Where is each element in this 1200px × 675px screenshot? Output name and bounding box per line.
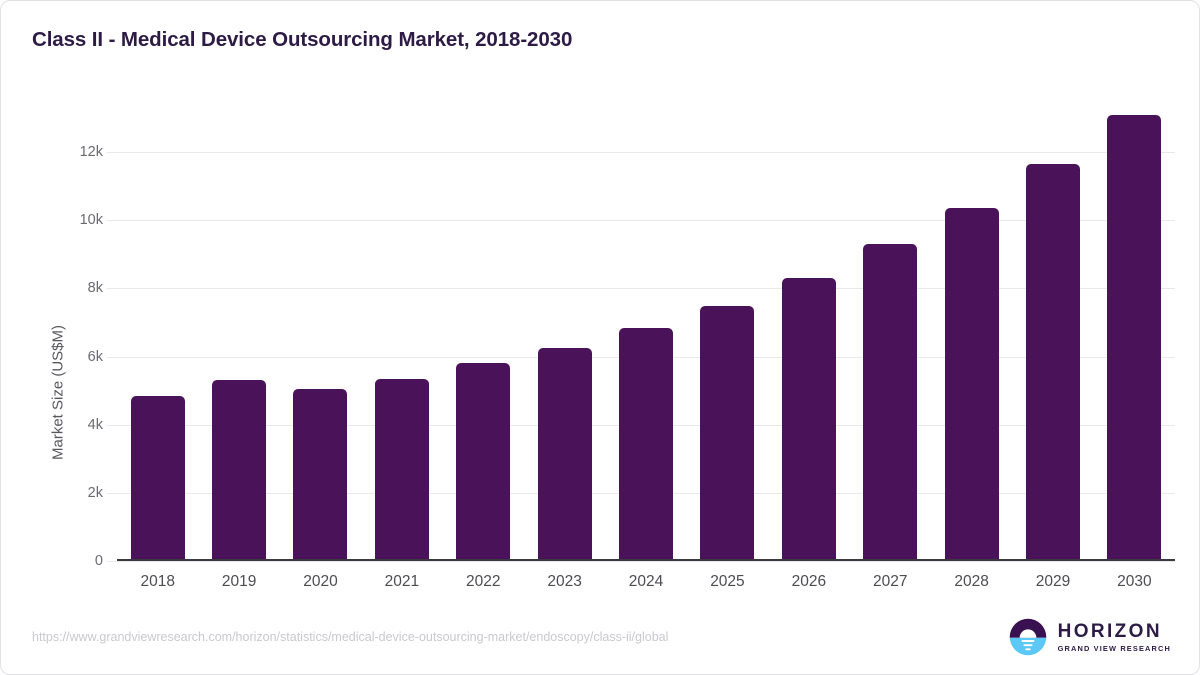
bar-2020[interactable] (293, 389, 347, 561)
bar-slot (443, 96, 524, 561)
y-axis-tick-label: 12k (43, 144, 103, 160)
bar-slot (850, 96, 931, 561)
bar-2023[interactable] (538, 348, 592, 561)
bar-slot (361, 96, 442, 561)
x-axis-tick-label: 2030 (1094, 573, 1175, 591)
x-axis-tick-label: 2026 (768, 573, 849, 591)
x-axis-tick-label: 2023 (524, 573, 605, 591)
x-axis-tick-labels: 2018201920202021202220232024202520262027… (117, 573, 1175, 591)
y-axis-tick-label: 10k (43, 212, 103, 228)
bar-2022[interactable] (456, 363, 510, 561)
chart-card: Class II - Medical Device Outsourcing Ma… (0, 0, 1200, 675)
x-axis-tick-label: 2029 (1012, 573, 1093, 591)
x-axis-tick-label: 2020 (280, 573, 361, 591)
y-axis-title: Market Size (US$M) (50, 273, 67, 513)
y-axis-tick-mark (107, 425, 117, 426)
x-axis-tick-label: 2019 (198, 573, 279, 591)
bar-2021[interactable] (375, 379, 429, 561)
y-axis-tick-label: 4k (43, 417, 103, 433)
bar-2029[interactable] (1026, 164, 1080, 561)
x-axis-tick-label: 2018 (117, 573, 198, 591)
y-axis-tick-mark (107, 493, 117, 494)
bar-slot (1094, 96, 1175, 561)
x-axis-tick-label: 2022 (443, 573, 524, 591)
bar-slot (1012, 96, 1093, 561)
bar-2027[interactable] (863, 244, 917, 561)
y-axis-tick-mark (107, 220, 117, 221)
y-axis-tick-label: 0 (43, 553, 103, 569)
bar-slot (605, 96, 686, 561)
bar-2024[interactable] (619, 328, 673, 561)
bar-2025[interactable] (700, 306, 754, 561)
bar-2018[interactable] (131, 396, 185, 561)
bar-slot (524, 96, 605, 561)
x-axis-tick-label: 2028 (931, 573, 1012, 591)
y-axis-tick-label: 8k (43, 280, 103, 296)
x-axis-tick-label: 2027 (850, 573, 931, 591)
bar-2028[interactable] (945, 208, 999, 561)
bar-2019[interactable] (212, 380, 266, 561)
bar-2030[interactable] (1107, 115, 1161, 561)
brand-logo: HORIZON GRAND VIEW RESEARCH (1009, 618, 1171, 656)
logo-wordmark: HORIZON (1058, 622, 1171, 641)
y-axis-tick-label: 6k (43, 349, 103, 365)
source-url[interactable]: https://www.grandviewresearch.com/horizo… (32, 630, 668, 644)
bar-slot (198, 96, 279, 561)
bar-series (117, 96, 1175, 561)
y-axis-tick-mark (107, 288, 117, 289)
bar-slot (117, 96, 198, 561)
logo-text: HORIZON GRAND VIEW RESEARCH (1058, 622, 1171, 652)
y-axis-tick-label: 2k (43, 485, 103, 501)
plot-area: 02k4k6k8k10k12k (117, 96, 1175, 561)
page-title: Class II - Medical Device Outsourcing Ma… (32, 28, 572, 52)
y-axis-tick-mark (107, 357, 117, 358)
logo-tagline: GRAND VIEW RESEARCH (1058, 645, 1171, 652)
x-axis-tick-label: 2021 (361, 573, 442, 591)
horizon-sun-circle-icon (1009, 618, 1047, 656)
gridline (117, 561, 1175, 562)
x-axis-line (117, 559, 1175, 561)
bar-slot (280, 96, 361, 561)
bar-slot (768, 96, 849, 561)
bar-slot (687, 96, 768, 561)
bar-2026[interactable] (782, 278, 836, 561)
y-axis-tick-mark (107, 152, 117, 153)
y-axis-tick-mark (107, 561, 117, 562)
bar-slot (931, 96, 1012, 561)
x-axis-tick-label: 2024 (605, 573, 686, 591)
x-axis-tick-label: 2025 (687, 573, 768, 591)
